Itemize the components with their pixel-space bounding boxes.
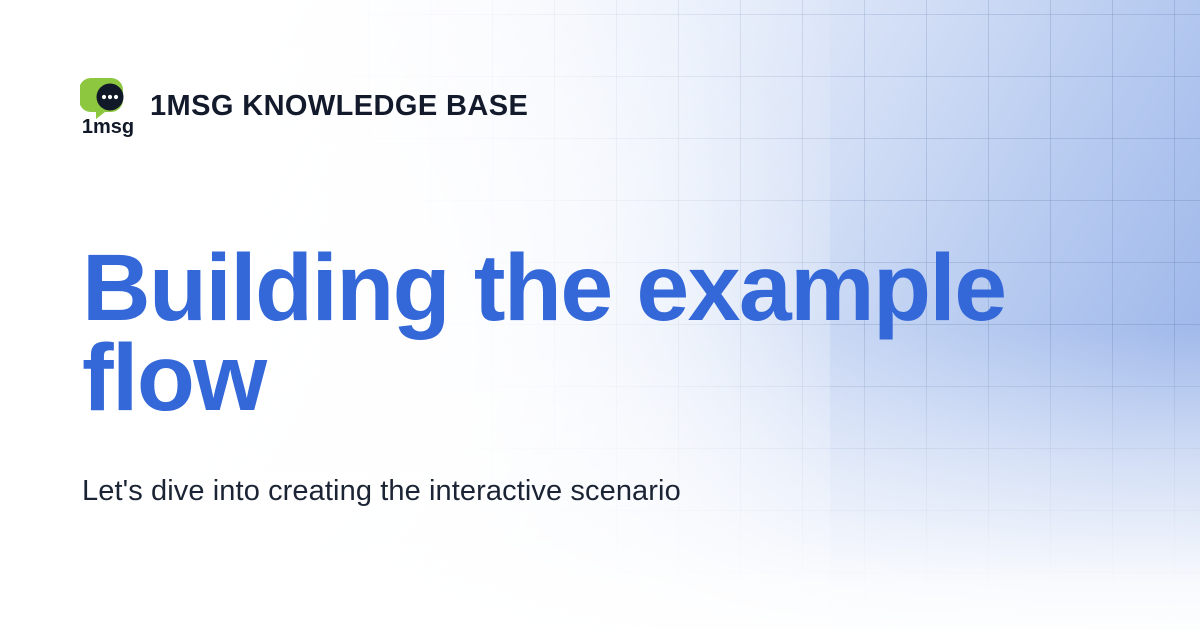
og-card-canvas: 1msg 1MSG KNOWLEDGE BASE Building the ex… [0, 0, 1200, 630]
1msg-wordmark: 1msg [82, 116, 134, 138]
page-subtitle: Let's dive into creating the interactive… [82, 473, 782, 510]
card-content: 1msg 1MSG KNOWLEDGE BASE Building the ex… [0, 0, 1200, 630]
knowledge-base-title: 1MSG KNOWLEDGE BASE [150, 92, 528, 121]
1msg-logo-icon: 1msg [80, 74, 136, 138]
page-title: Building the example flow [82, 243, 1042, 423]
brand-header: 1msg 1MSG KNOWLEDGE BASE [80, 74, 528, 138]
